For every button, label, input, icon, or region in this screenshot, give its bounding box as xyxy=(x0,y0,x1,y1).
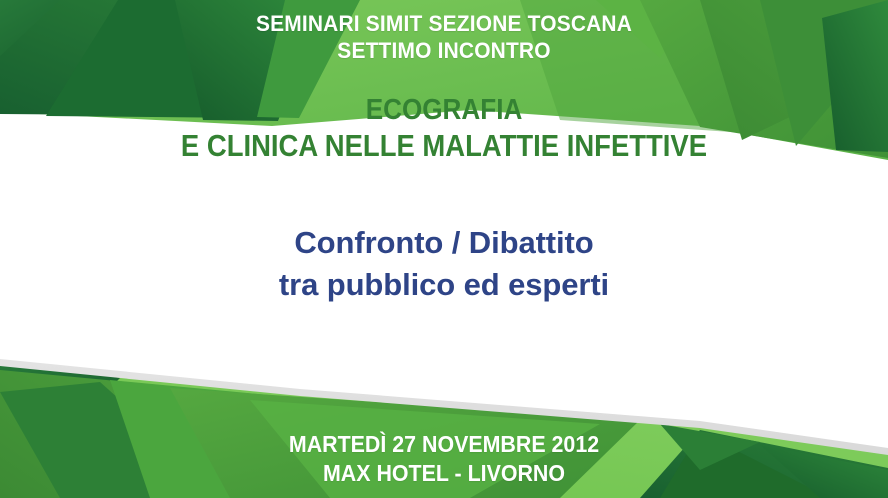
header-block: SEMINARI SIMIT SEZIONE TOSCANA SETTIMO I… xyxy=(0,10,888,64)
subtitle-line-2: tra pubblico ed esperti xyxy=(0,264,888,306)
title-block: ECOGRAFIA E CLINICA NELLE MALATTIE INFET… xyxy=(0,92,888,164)
poster-content: SEMINARI SIMIT SEZIONE TOSCANA SETTIMO I… xyxy=(0,0,888,498)
subtitle-block: Confronto / Dibattito tra pubblico ed es… xyxy=(0,222,888,306)
footer-block: MARTEDÌ 27 NOVEMBRE 2012 MAX HOTEL - LIV… xyxy=(0,430,888,488)
footer-date: MARTEDÌ 27 NOVEMBRE 2012 xyxy=(31,430,857,459)
header-line-2: SETTIMO INCONTRO xyxy=(31,37,857,64)
event-poster: SEMINARI SIMIT SEZIONE TOSCANA SETTIMO I… xyxy=(0,0,888,498)
footer-venue: MAX HOTEL - LIVORNO xyxy=(31,459,857,488)
title-line-1: ECOGRAFIA xyxy=(44,92,843,128)
subtitle-line-1: Confronto / Dibattito xyxy=(0,222,888,264)
header-line-1: SEMINARI SIMIT SEZIONE TOSCANA xyxy=(31,10,857,37)
title-line-2: E CLINICA NELLE MALATTIE INFETTIVE xyxy=(44,128,843,164)
